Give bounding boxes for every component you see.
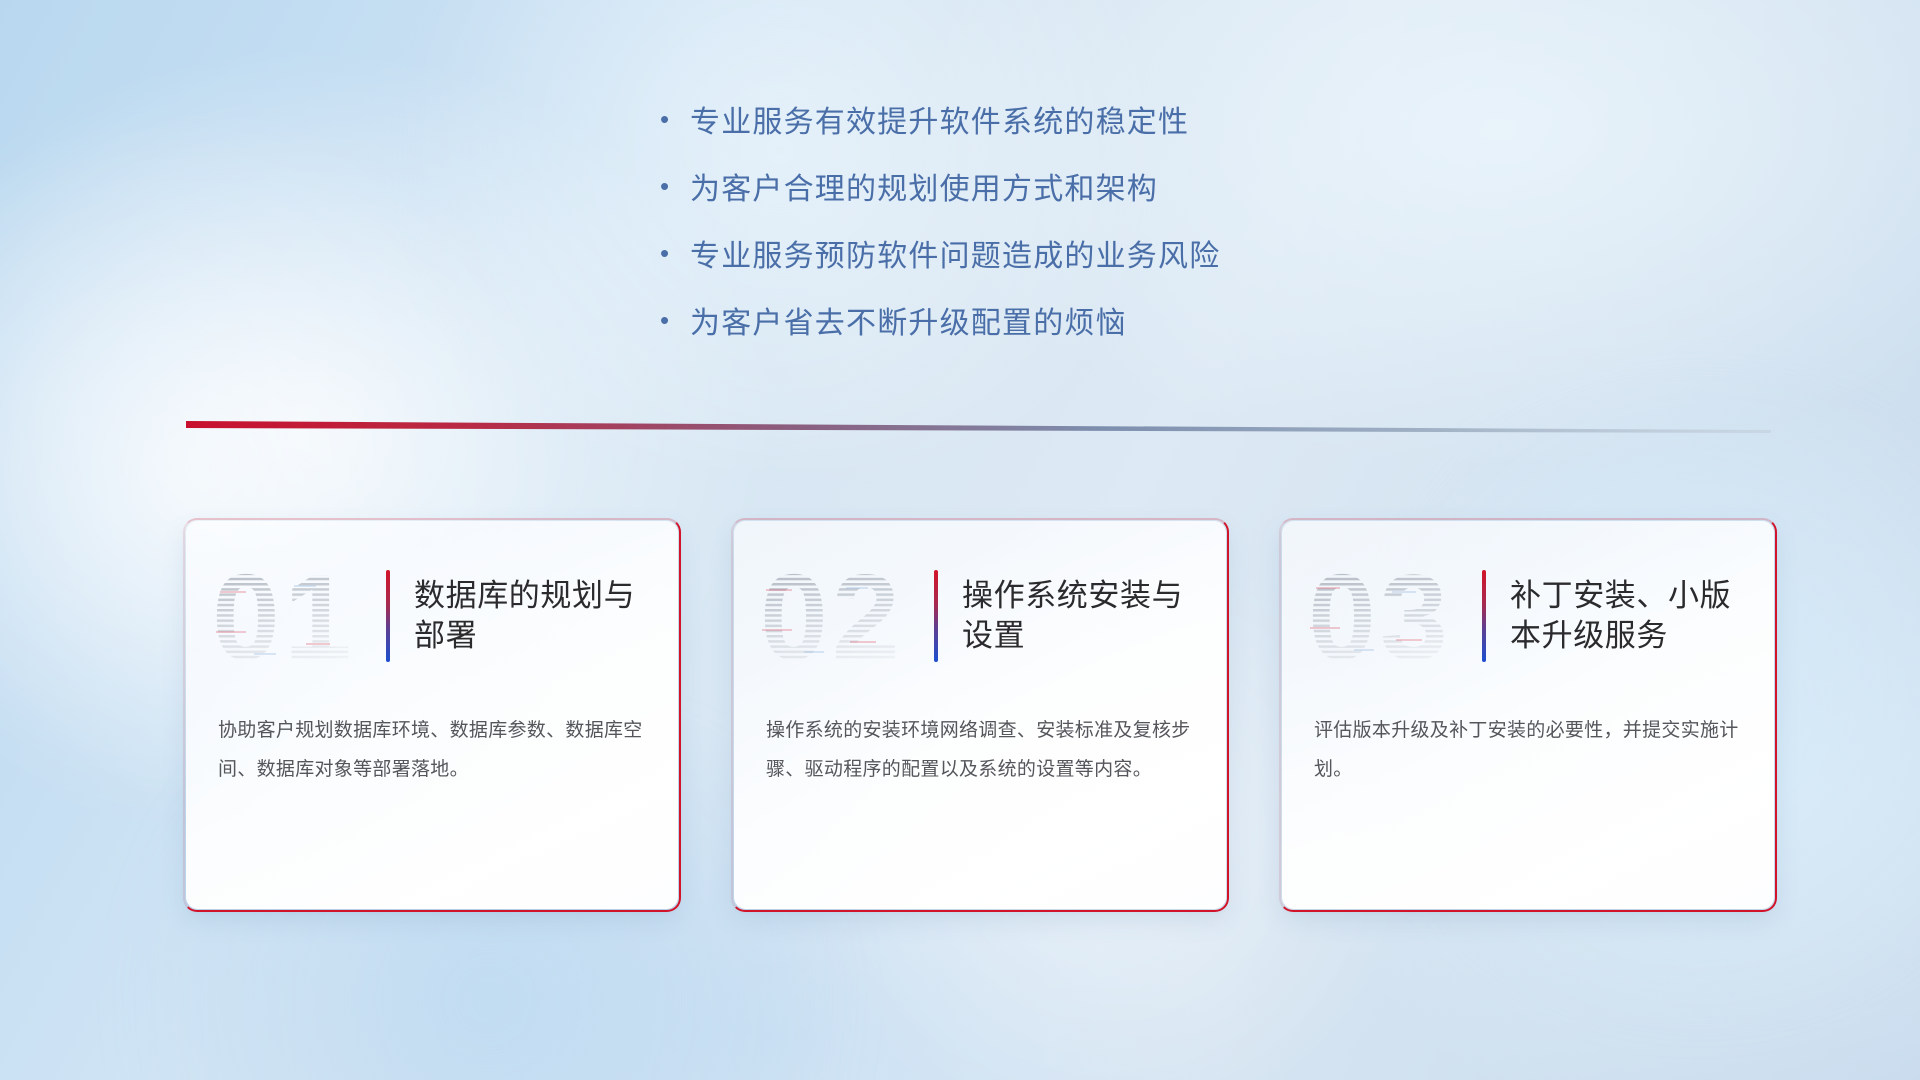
benefits-bullet-list: • 专业服务有效提升软件系统的稳定性 • 为客户合理的规划使用方式和架构 • 专…	[660, 105, 1480, 373]
card-number-watermark: 03	[1306, 557, 1474, 675]
section-divider	[186, 421, 1771, 435]
bullet-marker-icon: •	[660, 307, 690, 333]
card-accent-bar	[1482, 570, 1486, 662]
list-item: • 专业服务预防软件问题造成的业务风险	[660, 239, 1480, 275]
bullet-text: 专业服务有效提升软件系统的稳定性	[690, 105, 1189, 141]
card-description: 操作系统的安装环境网络调查、安装标准及复核步骤、驱动程序的配置以及系统的设置等内…	[734, 711, 1226, 789]
card-number-watermark: 02	[758, 557, 926, 675]
bullet-marker-icon: •	[660, 106, 690, 132]
card-header: 01 数据库的规划与部署	[186, 521, 678, 711]
card-description: 评估版本升级及补丁安装的必要性，并提交实施计划。	[1282, 711, 1774, 789]
card-title: 补丁安装、小版本升级服务	[1510, 576, 1748, 655]
bullet-text: 专业服务预防软件问题造成的业务风险	[690, 239, 1220, 275]
list-item: • 为客户合理的规划使用方式和架构	[660, 172, 1480, 208]
svg-text:01: 01	[212, 557, 356, 675]
list-item: • 专业服务有效提升软件系统的稳定性	[660, 105, 1480, 141]
card-header: 03 补丁安装、小版本升级服务	[1282, 521, 1774, 711]
slide-canvas: • 专业服务有效提升软件系统的稳定性 • 为客户合理的规划使用方式和架构 • 专…	[0, 0, 1920, 1080]
bullet-text: 为客户省去不断升级配置的烦恼	[690, 306, 1127, 342]
service-card-row: 01 数据库的规划与部署 协助客户规划数据库环境、数据库参数、数据库空间	[186, 521, 1774, 909]
svg-text:02: 02	[760, 557, 904, 675]
card-description: 协助客户规划数据库环境、数据库参数、数据库空间、数据库对象等部署落地。	[186, 711, 678, 789]
card-title: 操作系统安装与设置	[962, 576, 1200, 655]
svg-text:03: 03	[1308, 557, 1452, 675]
bullet-marker-icon: •	[660, 173, 690, 199]
service-card[interactable]: 03 补丁安装、小版本升级服务 评估版本升级及补丁安装的必要性，并提交实	[1282, 521, 1774, 909]
list-item: • 为客户省去不断升级配置的烦恼	[660, 306, 1480, 342]
bullet-text: 为客户合理的规划使用方式和架构	[690, 172, 1158, 208]
card-title: 数据库的规划与部署	[414, 576, 652, 655]
card-accent-bar	[386, 570, 390, 662]
card-number-watermark: 01	[210, 557, 378, 675]
card-header: 02 操作系统安装与设置	[734, 521, 1226, 711]
service-card[interactable]: 02 操作系统安装与设置 操作系统的安装环境网络调查、安装标准及复核步骤	[734, 521, 1226, 909]
bullet-marker-icon: •	[660, 240, 690, 266]
card-accent-bar	[934, 570, 938, 662]
service-card[interactable]: 01 数据库的规划与部署 协助客户规划数据库环境、数据库参数、数据库空间	[186, 521, 678, 909]
